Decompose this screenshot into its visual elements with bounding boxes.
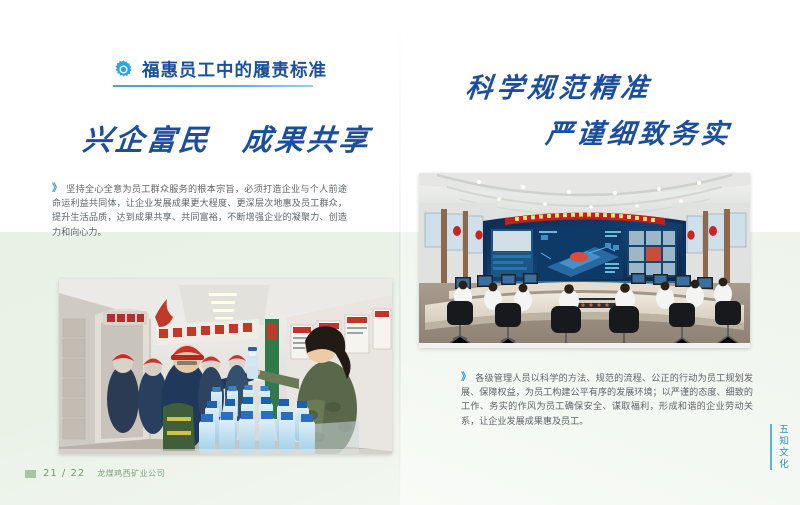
- page-number: 21 / 22: [43, 468, 85, 479]
- chevron-right-icon: 》: [461, 372, 470, 383]
- side-tab: 五知文化: [770, 424, 788, 470]
- side-tab-label: 五知文化: [776, 424, 788, 470]
- footer-swatch: [25, 470, 36, 478]
- page-spine: [399, 0, 401, 505]
- paragraph-right-text: 各级管理人员以科学的方法、规范的流程、公正的行动为员工规划发展、保障权益，为员工…: [461, 374, 753, 427]
- section-heading-label: 福惠员工中的履责标准: [142, 57, 327, 82]
- control-room-photo: [419, 173, 750, 348]
- paragraph-right: 》各级管理人员以科学的方法、规范的流程、公正的行动为员工规划发展、保障权益，为员…: [461, 371, 753, 429]
- water-handout-photo: [59, 279, 392, 454]
- chevron-right-icon: 》: [52, 183, 61, 194]
- company-name: 龙煤鸡西矿业公司: [97, 468, 165, 479]
- page-footer: 21 / 22 龙煤鸡西矿业公司: [25, 468, 165, 479]
- brochure-page: 福惠员工中的履责标准 兴企富民 成果共享 科学规范精准 严谨细致务实 》坚持全心…: [0, 0, 800, 505]
- side-tab-rule: [770, 424, 772, 470]
- paragraph-left: 》坚持全心全意为员工群众服务的根本宗旨，必须打造企业与个人前途命运利益共同体，让…: [52, 182, 347, 240]
- calligraphy-right-line2: 严谨细致务实: [544, 112, 734, 151]
- calligraphy-left: 兴企富民 成果共享: [81, 117, 373, 159]
- gear-icon: [113, 59, 134, 80]
- section-heading-underline: [113, 85, 313, 87]
- paragraph-left-text: 坚持全心全意为员工群众服务的根本宗旨，必须打造企业与个人前途命运利益共同体，让企…: [52, 185, 347, 238]
- section-heading: 福惠员工中的履责标准: [113, 57, 327, 82]
- calligraphy-right-line1: 科学规范精准: [464, 66, 654, 105]
